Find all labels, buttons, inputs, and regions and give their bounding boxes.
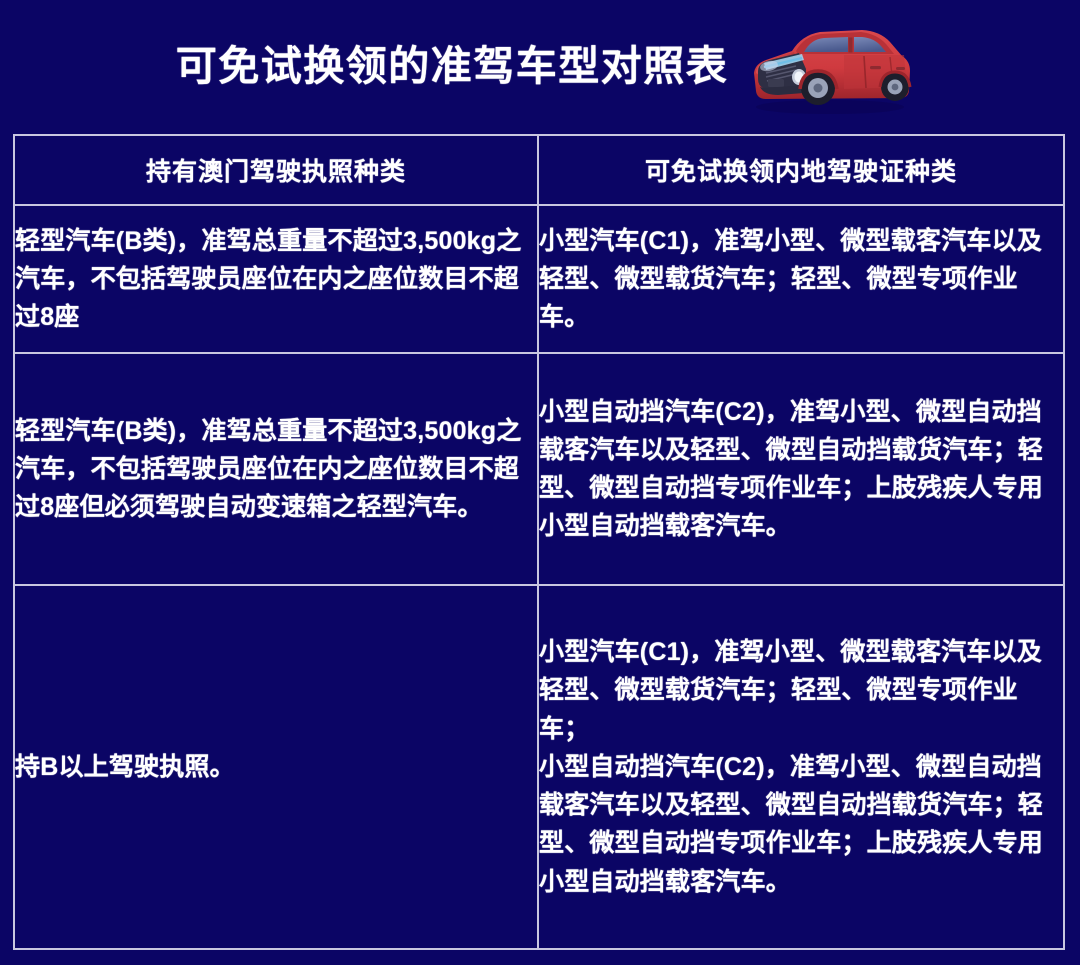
cell-row1-macau: 轻型汽车(B类)，准驾总重量不超过3,500kg之汽车，不包括驾驶员座位在内之座… bbox=[14, 205, 538, 353]
cell-row2-mainland: 小型自动挡汽车(C2)，准驾小型、微型自动挡载客汽车以及轻型、微型自动挡载货汽车… bbox=[538, 353, 1064, 585]
cell-paragraph: 轻型汽车(B类)，准驾总重量不超过3,500kg之汽车，不包括驾驶员座位在内之座… bbox=[15, 412, 537, 527]
table-row: 轻型汽车(B类)，准驾总重量不超过3,500kg之汽车，不包括驾驶员座位在内之座… bbox=[14, 353, 1064, 585]
cell-row1-mainland: 小型汽车(C1)，准驾小型、微型载客汽车以及轻型、微型载货汽车；轻型、微型专项作… bbox=[538, 205, 1064, 353]
red-suv-car-icon bbox=[744, 15, 916, 117]
cell-row2-macau: 轻型汽车(B类)，准驾总重量不超过3,500kg之汽车，不包括驾驶员座位在内之座… bbox=[14, 353, 538, 585]
cell-paragraph: 小型汽车(C1)，准驾小型、微型载客汽车以及轻型、微型载货汽车；轻型、微型专项作… bbox=[539, 222, 1063, 337]
column-header-mainland-license: 可免试换领内地驾驶证种类 bbox=[538, 135, 1064, 205]
header-inner: 可免试换领的准驾车型对照表 bbox=[176, 15, 917, 117]
cell-row3-macau: 持B以上驾驶执照。 bbox=[14, 585, 538, 949]
table-row: 持B以上驾驶执照。 小型汽车(C1)，准驾小型、微型载客汽车以及轻型、微型载货汽… bbox=[14, 585, 1064, 949]
cell-paragraph: 持B以上驾驶执照。 bbox=[15, 748, 537, 786]
table-head: 持有澳门驾驶执照种类 可免试换领内地驾驶证种类 bbox=[14, 135, 1064, 205]
table-row: 轻型汽车(B类)，准驾总重量不超过3,500kg之汽车，不包括驾驶员座位在内之座… bbox=[14, 205, 1064, 353]
poster-root: 可免试换领的准驾车型对照表 bbox=[0, 0, 1080, 965]
comparison-table: 持有澳门驾驶执照种类 可免试换领内地驾驶证种类 轻型汽车(B类)，准驾总重量不超… bbox=[13, 134, 1065, 950]
poster-header: 可免试换领的准驾车型对照表 bbox=[0, 0, 1080, 132]
page-title: 可免试换领的准驾车型对照表 bbox=[176, 46, 729, 87]
cell-paragraph: 小型自动挡汽车(C2)，准驾小型、微型自动挡载客汽车以及轻型、微型自动挡载货汽车… bbox=[539, 393, 1063, 546]
cell-paragraph: 小型自动挡汽车(C2)，准驾小型、微型自动挡载客汽车以及轻型、微型自动挡载货汽车… bbox=[539, 748, 1063, 901]
table-body: 轻型汽车(B类)，准驾总重量不超过3,500kg之汽车，不包括驾驶员座位在内之座… bbox=[14, 205, 1064, 949]
comparison-table-container: 持有澳门驾驶执照种类 可免试换领内地驾驶证种类 轻型汽车(B类)，准驾总重量不超… bbox=[13, 134, 1063, 946]
cell-paragraph: 小型汽车(C1)，准驾小型、微型载客汽车以及轻型、微型载货汽车；轻型、微型专项作… bbox=[539, 633, 1063, 748]
column-header-macau-license: 持有澳门驾驶执照种类 bbox=[14, 135, 538, 205]
table-header-row: 持有澳门驾驶执照种类 可免试换领内地驾驶证种类 bbox=[14, 135, 1064, 205]
cell-row3-mainland: 小型汽车(C1)，准驾小型、微型载客汽车以及轻型、微型载货汽车；轻型、微型专项作… bbox=[538, 585, 1064, 949]
cell-paragraph: 轻型汽车(B类)，准驾总重量不超过3,500kg之汽车，不包括驾驶员座位在内之座… bbox=[15, 222, 537, 337]
